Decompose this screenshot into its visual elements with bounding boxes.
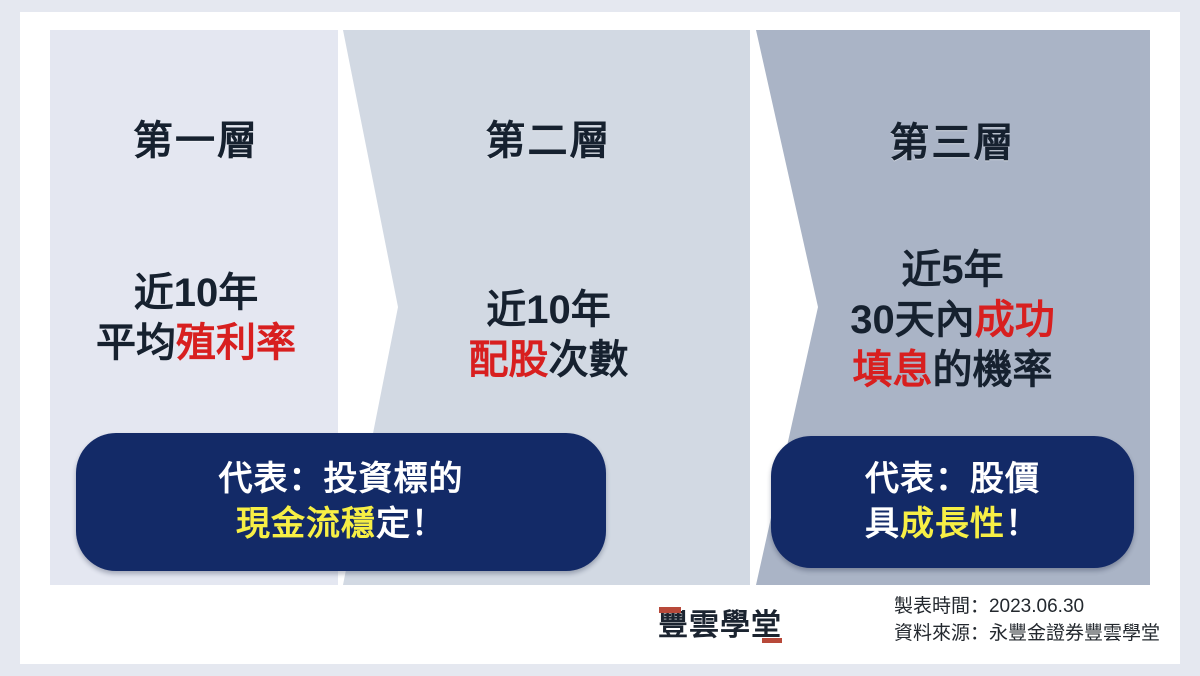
tier-3-metric-plain-2: 的機率 [933, 348, 1053, 392]
credits-block: 製表時間：2023.06.30 資料來源：永豐金證券豐雲學堂 [894, 593, 1160, 648]
tier-3-metric-plain: 30天內 [850, 298, 975, 342]
tier-2-metric-highlight: 配股 [469, 338, 549, 382]
logo-accent-bar-bottom-icon [762, 638, 782, 643]
created-time-label: 製表時間： [894, 596, 989, 617]
created-time-value: 2023.06.30 [989, 596, 1084, 617]
tier-3-metric: 近5年 30天內成功 填息的機率 [755, 245, 1150, 395]
tier-3-conclusion-pill: 代表：股價 具成長性！ [771, 436, 1134, 568]
logo-accent-bar-top-icon [659, 607, 681, 613]
brand-logo-wrap: 豐雲學堂 [658, 600, 782, 644]
tier-1-metric-plain: 平均 [96, 321, 176, 365]
tier-3-metric-line3: 填息的機率 [755, 345, 1150, 395]
tier-3-title: 第三層 [755, 110, 1150, 168]
data-source-value: 永豐金證券豐雲學堂 [989, 623, 1160, 644]
tier-2-metric-plain: 次數 [549, 338, 629, 382]
tier-3-pill-plain-end: ！ [1005, 505, 1040, 543]
tier-2-metric: 近10年 配股次數 [342, 285, 755, 385]
tier-3-metric-line1: 近5年 [755, 245, 1150, 295]
tier-3-pill-line1: 代表：股價 [865, 457, 1040, 502]
tier-panel-3: 第三層 近5年 30天內成功 填息的機率 代表：股價 具成長性！ [755, 30, 1150, 585]
tier-3-pill-plain-start: 具 [865, 505, 900, 543]
tier-1-metric: 近10年 平均殖利率 [50, 268, 342, 368]
brand-logo: 豐雲學堂 [658, 600, 782, 644]
created-time-row: 製表時間：2023.06.30 [894, 593, 1160, 621]
tier-3-pill-text: 代表：股價 具成長性！ [865, 457, 1040, 547]
tier-2-metric-line1: 近10年 [342, 285, 755, 335]
tier-panels-group: 第一層 近10年 平均殖利率 代表：投資標的 現金流穩定！ 第二層 近10年 配… [50, 30, 1150, 585]
tier-1-metric-line1: 近10年 [50, 268, 342, 318]
data-source-label: 資料來源： [894, 623, 989, 644]
tier-2-metric-line2: 配股次數 [342, 335, 755, 385]
tier-3-metric-highlight: 成功 [975, 298, 1055, 342]
tier-panel-2: 第二層 近10年 配股次數 [342, 30, 755, 585]
tier-3-metric-highlight-2: 填息 [853, 348, 933, 392]
tier-1-title: 第一層 [50, 108, 342, 166]
tier-3-pill-highlight: 成長性 [900, 505, 1005, 543]
footer: 豐雲學堂 製表時間：2023.06.30 資料來源：永豐金證券豐雲學堂 [50, 596, 1160, 652]
tier-2-title: 第二層 [342, 108, 755, 166]
tier-1-metric-line2: 平均殖利率 [50, 318, 342, 368]
tier-1-metric-highlight: 殖利率 [176, 321, 296, 365]
tier-3-pill-line2: 具成長性！ [865, 502, 1040, 547]
data-source-row: 資料來源：永豐金證券豐雲學堂 [894, 620, 1160, 648]
slide-canvas: 第一層 近10年 平均殖利率 代表：投資標的 現金流穩定！ 第二層 近10年 配… [0, 0, 1200, 676]
tier-3-metric-line2: 30天內成功 [755, 295, 1150, 345]
tier-panel-1: 第一層 近10年 平均殖利率 代表：投資標的 現金流穩定！ [50, 30, 342, 585]
